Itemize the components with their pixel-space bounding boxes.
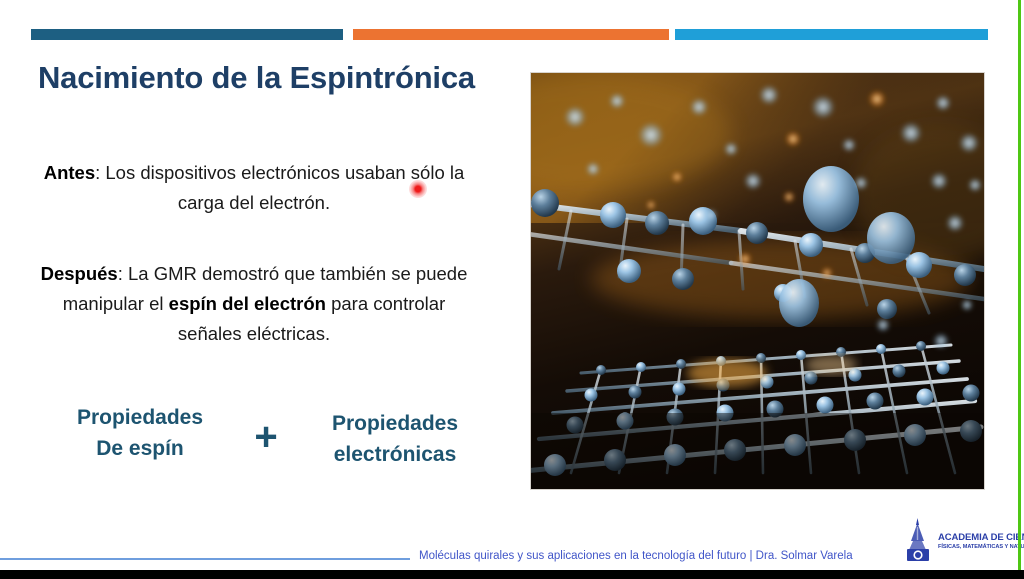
footer-logo-line1: ACADEMIA DE CIENCIAS [938,532,1016,543]
molecular-lattice-illustration [531,73,984,489]
laser-pointer-dot [409,180,427,198]
presentation-slide: Nacimiento de la Espintrónica Antes: Los… [0,0,1024,579]
plus-icon: + [245,414,287,460]
paragraph-despues-separator: : [118,263,128,284]
hero-image-molecular-lattice [531,73,984,489]
footer-logo-text: ACADEMIA DE CIENCIAS FÍSICAS, MATEMÁTICA… [938,532,1016,551]
paragraph-despues-emphasis: espín del electrón [169,293,326,314]
accent-bar-orange [353,29,669,40]
cathedral-tower-icon [900,517,936,563]
spintronics-formula: Propiedades De espín + Propiedades elect… [30,400,500,475]
footer-logo: ACADEMIA DE CIENCIAS FÍSICAS, MATEMÁTICA… [900,517,1012,565]
footer-logo-line2: FÍSICAS, MATEMÁTICAS Y NATURALES [938,543,1016,551]
formula-term-electronic-line2: electrónicas [295,439,495,470]
formula-term-spin-line2: De espín [45,433,235,464]
formula-term-spin-line1: Propiedades [45,402,235,433]
formula-term-electronic-line1: Propiedades [295,408,495,439]
paragraph-despues: Después: La GMR demostró que también se … [32,259,476,349]
hero-sphere-large [803,166,859,232]
footer-text: Moléculas quirales y sus aplicaciones en… [419,550,853,562]
slide-title: Nacimiento de la Espintrónica [38,60,475,96]
bottom-black-bar [0,570,1024,579]
paragraph-antes-separator: : [95,162,105,183]
accent-bar-navy [31,29,343,40]
footer-rule [0,558,410,560]
formula-term-spin: Propiedades De espín [45,402,235,464]
paragraph-antes-lead: Antes [44,162,95,183]
accent-bar-blue [675,29,988,40]
paragraph-despues-lead: Después [41,263,118,284]
formula-term-electronic: Propiedades electrónicas [295,408,495,470]
green-edge-strip [1018,0,1021,570]
